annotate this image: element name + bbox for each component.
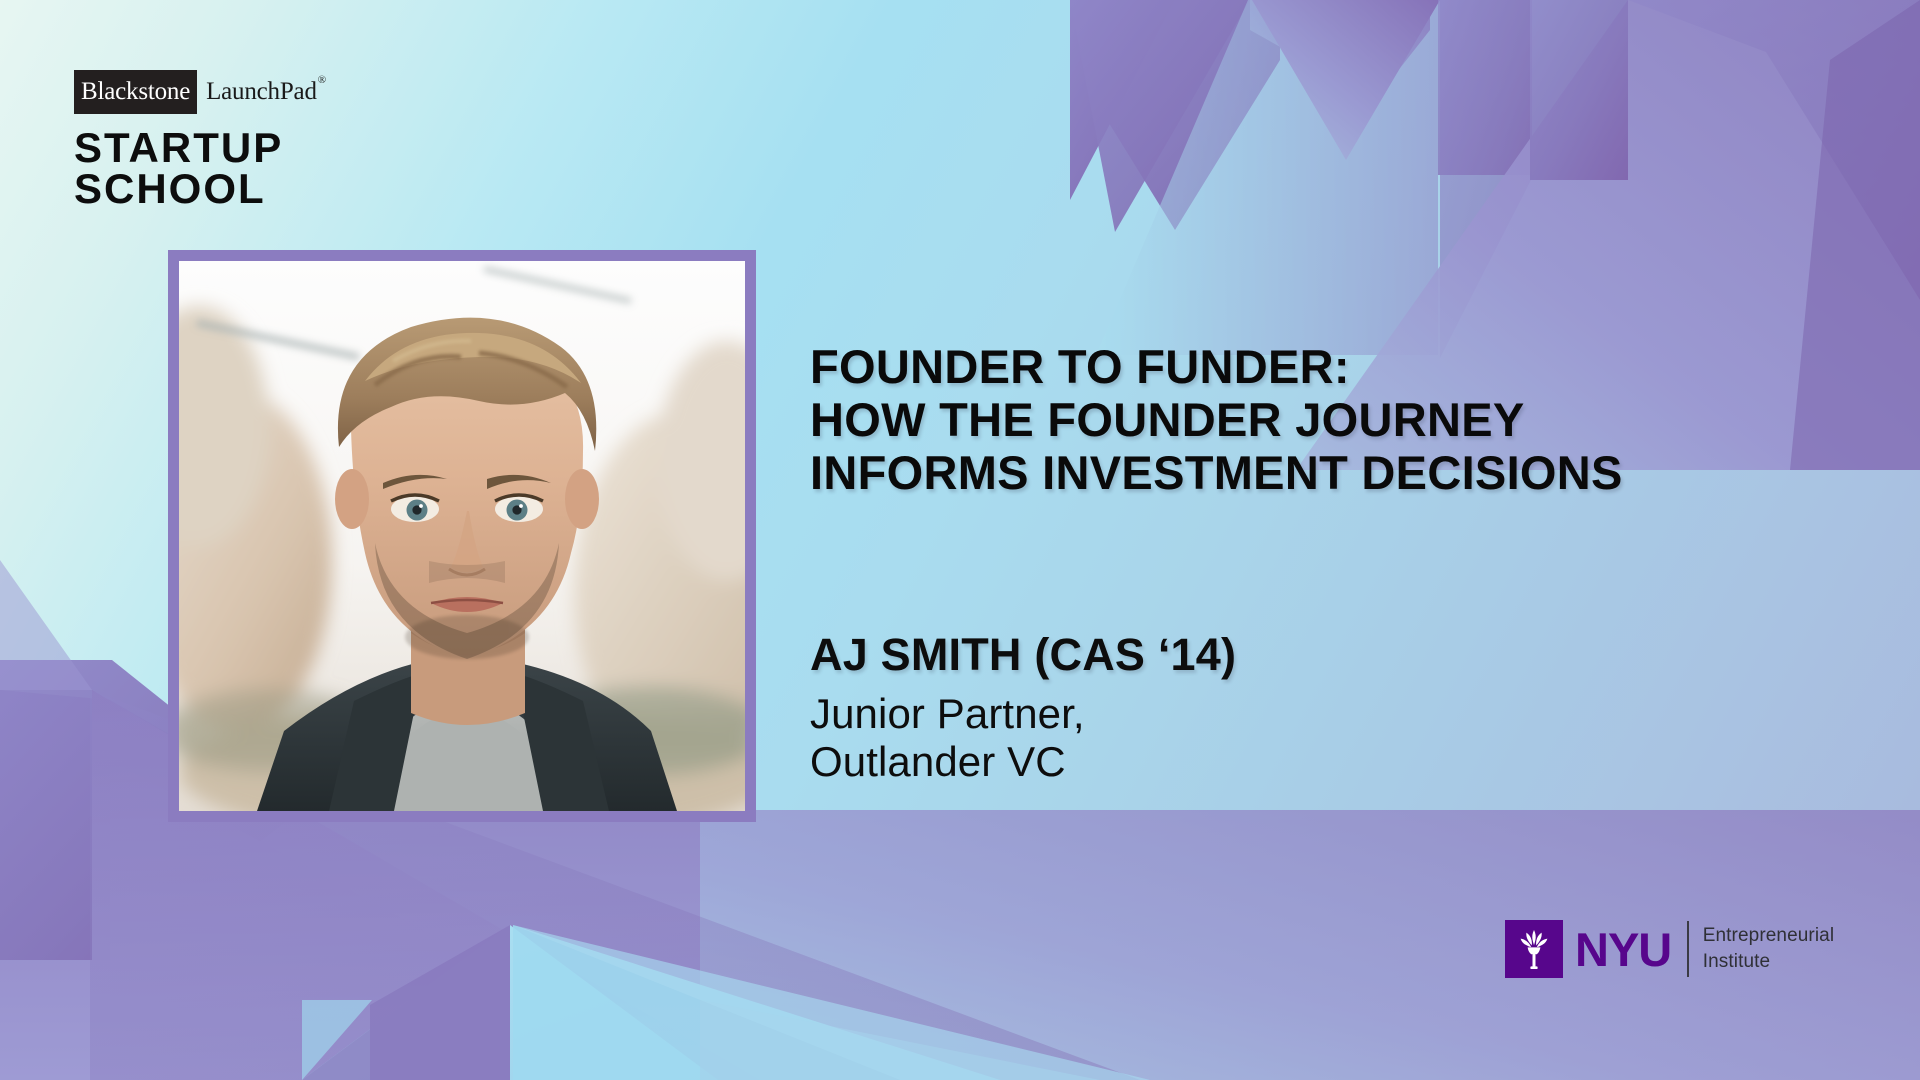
talk-title-line-1: FOUNDER TO FUNDER: — [810, 340, 1623, 393]
headshot-of-speaker-illustration — [179, 261, 745, 811]
registered-trademark-icon: ® — [318, 74, 326, 86]
logo-divider — [1687, 921, 1689, 977]
nyu-unit-line-1: Entrepreneurial — [1703, 923, 1834, 949]
talk-title-line-3: INFORMS INVESTMENT DECISIONS — [810, 446, 1623, 499]
speaker-info: AJ SMITH (CAS ‘14) Junior Partner, Outla… — [810, 630, 1236, 786]
speaker-role: Junior Partner, Outlander VC — [810, 690, 1236, 786]
presentation-slide: Blackstone LaunchPad® STARTUP SCHOOL — [0, 0, 1920, 1080]
startup-school-wordmark: STARTUP SCHOOL — [74, 127, 334, 209]
speaker-name: AJ SMITH (CAS ‘14) — [810, 630, 1236, 680]
nyu-unit-name: Entrepreneurial Institute — [1703, 923, 1834, 974]
startup-school-line-2: SCHOOL — [74, 168, 334, 209]
launchpad-text: LaunchPad — [206, 78, 317, 105]
blackstone-launchpad-startup-school-lockup: Blackstone LaunchPad® STARTUP SCHOOL — [74, 70, 334, 209]
nyu-wordmark: NYU — [1575, 926, 1671, 973]
nyu-torch-badge — [1505, 920, 1563, 978]
startup-school-line-1: STARTUP — [74, 127, 334, 168]
launchpad-wordmark: LaunchPad® — [197, 70, 325, 114]
speaker-role-line-2: Outlander VC — [810, 738, 1236, 786]
blackstone-wordmark: Blackstone — [74, 70, 197, 114]
torch-icon — [1516, 928, 1552, 970]
speaker-photo — [179, 261, 745, 811]
speaker-role-line-1: Junior Partner, — [810, 690, 1236, 738]
talk-title: FOUNDER TO FUNDER: HOW THE FOUNDER JOURN… — [810, 340, 1623, 499]
nyu-unit-line-2: Institute — [1703, 949, 1834, 975]
talk-title-line-2: HOW THE FOUNDER JOURNEY — [810, 393, 1623, 446]
speaker-photo-frame — [168, 250, 756, 822]
nyu-entrepreneurial-institute-logo: NYU Entrepreneurial Institute — [1505, 920, 1834, 978]
blackstone-launchpad-logo: Blackstone LaunchPad® — [74, 70, 325, 114]
